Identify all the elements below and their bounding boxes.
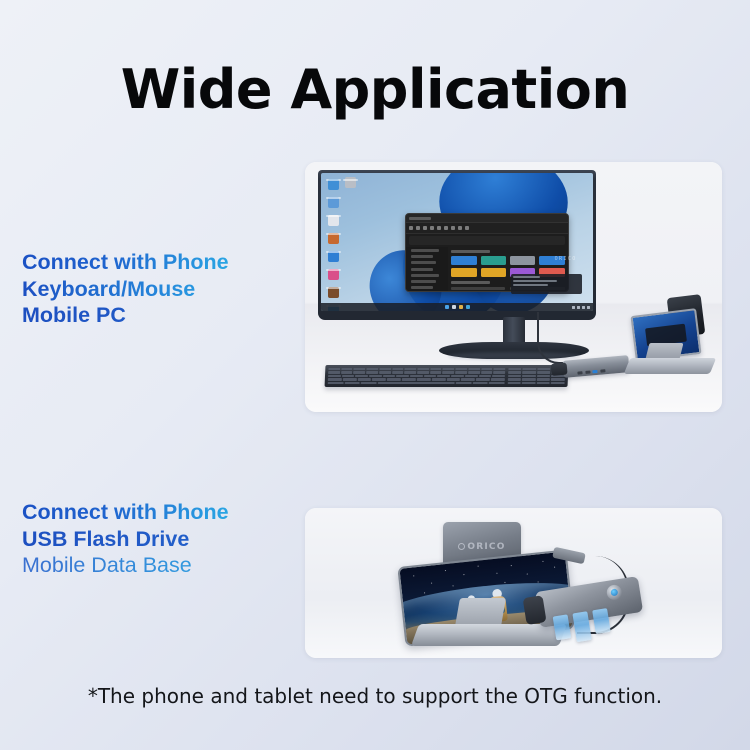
feature-desktop-line-3: Mobile PC [22,302,229,329]
nav-item[interactable] [411,268,432,271]
copy-icon[interactable] [423,226,427,230]
nav-item[interactable] [411,249,438,252]
paste-icon[interactable] [430,226,434,230]
monitor-bezel: ORICO [318,170,596,320]
page-title: Wide Application [0,58,750,121]
rename-icon[interactable] [437,226,441,230]
monitor-screen: ORICO [321,173,593,311]
scene-phone-storage: ORICO [305,508,722,658]
system-tray[interactable] [572,306,590,309]
footnote-otg-disclaimer: *The phone and tablet need to support th… [0,684,750,708]
explorer-address-bar[interactable] [409,236,564,245]
clock[interactable] [587,306,590,309]
volume-icon[interactable] [577,306,580,309]
orico-mark-icon [458,543,465,550]
keyboard-row [328,371,505,374]
photo-panel-phone-storage: ORICO [305,508,722,658]
stand-base [624,358,716,374]
tablet-stand-top [627,296,713,374]
desktop-icon-app-2[interactable] [328,233,339,244]
folder-tile[interactable] [451,256,476,265]
hdmi-cable [537,312,583,364]
keyboard-main-cluster [328,368,506,385]
wallpaper-watermark: ORICO [555,256,577,262]
feature-storage-line-3: Mobile Data Base [22,552,229,579]
desktop-icons [325,177,351,311]
desktop-icon-recycle-bin[interactable] [328,179,339,190]
cut-icon[interactable] [416,226,420,230]
nav-item[interactable] [411,286,432,289]
usb-flash-drive [572,611,591,642]
hub-indicator-dial [606,584,623,601]
battery-icon[interactable] [582,306,585,309]
keyboard[interactable] [325,365,569,387]
monitor: ORICO [318,170,596,320]
view-icon[interactable] [465,226,469,230]
search-icon[interactable] [452,305,456,309]
desktop-icon-app-3[interactable] [328,251,339,262]
nav-item[interactable] [411,261,435,264]
explorer-icon[interactable] [459,305,463,309]
folder-tile[interactable] [481,268,506,277]
hdmi-port-icon [577,371,582,374]
feature-desktop-line-2: Keyboard/Mouse [22,276,229,303]
feature-block-desktop: Connect with Phone Keyboard/Mouse Mobile… [22,249,229,329]
nav-item[interactable] [411,274,438,277]
sort-icon[interactable] [458,226,462,230]
section-header-recent-files [451,281,490,284]
keyboard-row [328,375,505,378]
desktop-icon-app-4[interactable] [328,269,339,280]
network-icon[interactable] [572,306,575,309]
desktop-icon-this-pc[interactable] [328,197,339,208]
feature-desktop-line-1: Connect with Phone [22,249,229,276]
new-icon[interactable] [409,226,413,230]
share-icon[interactable] [444,226,448,230]
usb-flash-drive [553,614,572,640]
desktop-icon-app-1[interactable] [328,215,339,226]
feature-storage-line-1: Connect with Phone [22,499,229,526]
orico-brand-logo: ORICO [443,542,521,552]
monitor-stand-neck [503,317,525,345]
folder-tile[interactable] [451,268,476,277]
nav-item[interactable] [411,280,435,283]
start-icon[interactable] [445,305,449,309]
folder-tile[interactable] [510,256,535,265]
usb-flash-drives [553,608,617,658]
explorer-titlebar[interactable] [406,214,567,223]
scene-desktop: ORICO [305,162,722,412]
keyboard-row [328,382,505,385]
explorer-toolbar[interactable] [406,223,567,234]
file-row[interactable] [451,287,505,290]
nav-item[interactable] [411,255,432,258]
keyboard-row [328,368,505,371]
keyboard-row [328,378,505,381]
section-header-quick-access [451,250,490,253]
edge-icon[interactable] [466,305,470,309]
hub-ports [577,369,605,374]
orico-wordmark: ORICO [467,542,505,552]
usb-a-port-icon [585,371,590,374]
taskbar[interactable] [321,303,593,311]
photo-panel-desktop-setup: ORICO [305,162,722,412]
desktop-widget-panel[interactable] [511,274,582,295]
sd-card-slot-icon [600,369,605,372]
feature-storage-line-2: USB Flash Drive [22,526,229,553]
feature-block-storage: Connect with Phone USB Flash Drive Mobil… [22,499,229,579]
explorer-nav-pane[interactable] [406,247,448,291]
desktop-icon-app-9[interactable] [345,177,356,188]
marketing-image-root: Wide Application Connect with Phone Keyb… [0,0,750,750]
delete-icon[interactable] [451,226,455,230]
usb3-port-icon [592,370,597,373]
desktop-icon-app-5[interactable] [328,287,339,298]
phone-stand: ORICO [401,522,577,646]
stand-base-bottom [411,624,567,646]
folder-tile[interactable] [481,256,506,265]
